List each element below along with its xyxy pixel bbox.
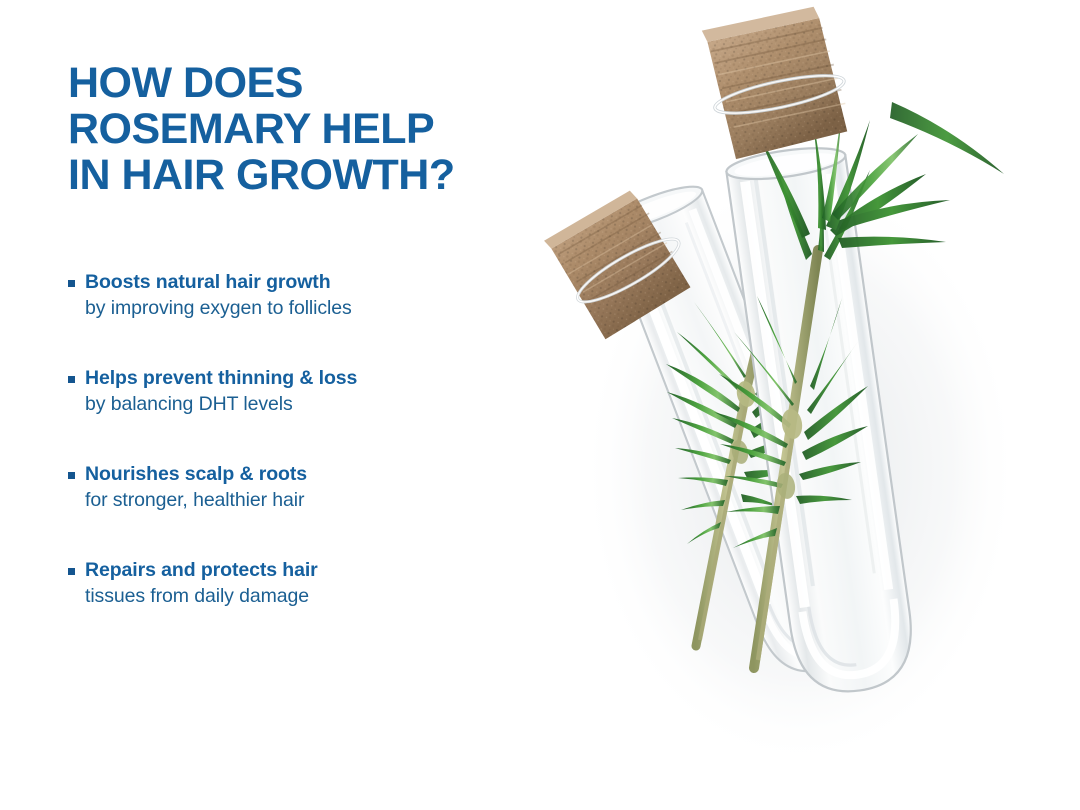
infographic-canvas: HOW DOES ROSEMARY HELP IN HAIR GROWTH? B… — [0, 0, 1080, 810]
benefit-title: Helps prevent thinning & loss — [85, 366, 538, 391]
benefit-subtitle: by balancing DHT levels — [85, 391, 538, 418]
list-item: Repairs and protects hair tissues from d… — [68, 558, 538, 610]
list-item: Boosts natural hair growth by improving … — [68, 270, 538, 322]
benefit-subtitle: by improving exygen to follicles — [85, 295, 538, 322]
rosemary-stray-needle — [890, 102, 1004, 174]
headline-line-3: IN HAIR GROWTH? — [68, 152, 568, 198]
rosemary-test-tubes-photo — [500, 0, 1080, 810]
headline-line-1: HOW DOES — [68, 60, 568, 106]
benefit-title: Repairs and protects hair — [85, 558, 538, 583]
page-title: HOW DOES ROSEMARY HELP IN HAIR GROWTH? — [68, 60, 568, 198]
benefit-title: Nourishes scalp & roots — [85, 462, 538, 487]
benefit-subtitle: for stronger, healthier hair — [85, 487, 538, 514]
list-item: Nourishes scalp & roots for stronger, he… — [68, 462, 538, 514]
headline-line-2: ROSEMARY HELP — [68, 106, 568, 152]
bullet-square-icon — [68, 280, 75, 287]
bullet-square-icon — [68, 376, 75, 383]
headline-block: HOW DOES ROSEMARY HELP IN HAIR GROWTH? — [68, 60, 568, 198]
bullet-square-icon — [68, 472, 75, 479]
benefit-subtitle: tissues from daily damage — [85, 583, 538, 610]
benefits-list: Boosts natural hair growth by improving … — [68, 270, 538, 610]
list-item: Helps prevent thinning & loss by balanci… — [68, 366, 538, 418]
benefit-title: Boosts natural hair growth — [85, 270, 538, 295]
bullet-square-icon — [68, 568, 75, 575]
